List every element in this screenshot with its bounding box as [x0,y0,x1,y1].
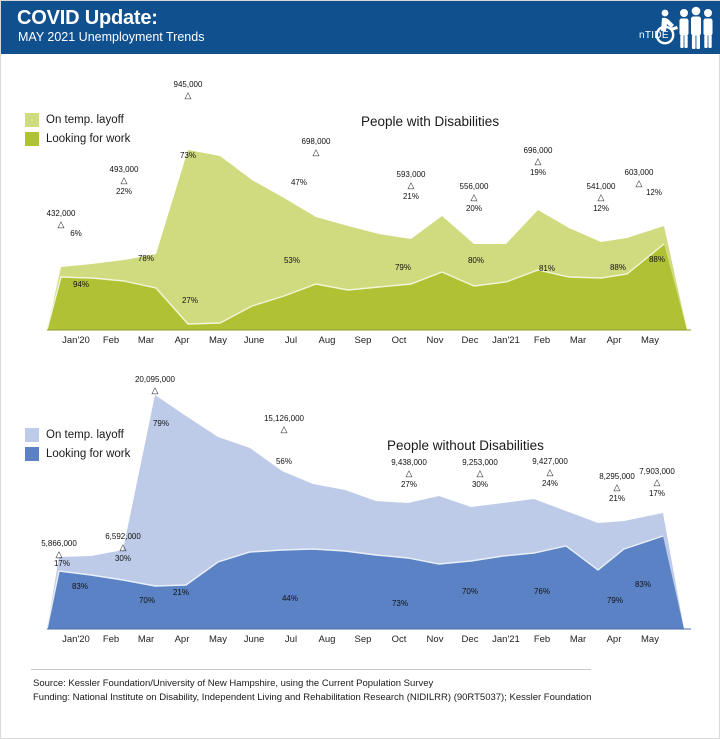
value-label: 696,000 [503,146,573,155]
pct-label-lower: 73% [383,599,417,608]
pct-label-lower: 21% [164,588,198,597]
data-point-marker: △ [178,90,198,101]
x-axis-label: May [629,634,671,645]
pct-label: 56% [267,457,301,466]
legend-label-looking-for-work: Looking for work [46,133,130,145]
footer-source-text: Source: Kessler Foundation/University of… [33,678,433,689]
data-point-marker: △ [114,175,134,186]
data-point-marker: △ [399,468,419,479]
pct-label: 12% [584,204,618,213]
data-point-marker: △ [540,467,560,478]
x-axis-label: May [629,335,671,346]
value-label: 15,126,000 [249,414,319,423]
pct-label-lower: 81% [530,264,564,273]
legend-bottom: On temp. layoff Looking for work [25,428,130,466]
data-point-marker: △ [647,477,667,488]
pct-label: 73% [171,151,205,160]
data-point-marker: △ [464,192,484,203]
pct-label-lower: 76% [525,587,559,596]
pct-label: 19% [521,168,555,177]
wheelchair-and-people-icon [639,3,715,51]
pct-label-lower: 53% [275,256,309,265]
value-label: 7,903,000 [622,467,692,476]
legend-swatch-looking-for-work [25,447,39,461]
value-label: 9,253,000 [445,458,515,467]
pct-label-lower: 80% [459,256,493,265]
pct-label-lower: 79% [598,596,632,605]
data-point-marker: △ [113,542,133,553]
pct-label: 21% [394,192,428,201]
legend-item-looking-for-work: Looking for work [25,447,130,461]
pct-label-lower: 79% [386,263,420,272]
pct-label: 30% [106,554,140,563]
legend-top: On temp. layoff Looking for work [25,113,130,151]
data-point-marker: △ [145,385,165,396]
data-point-marker: △ [528,156,548,167]
chart-top-plot-area [1,58,720,348]
pct-label: 47% [282,178,316,187]
ntide-logo: nTIDE [639,3,715,51]
pct-label-lower: 27% [173,296,207,305]
value-label: 541,000 [566,182,636,191]
pct-label-lower: 83% [63,582,97,591]
data-point-marker: △ [470,468,490,479]
value-label: 698,000 [281,137,351,146]
value-label: 6,592,000 [88,532,158,541]
data-point-marker: △ [306,147,326,158]
value-label: 5,866,000 [24,539,94,548]
page-subtitle: MAY 2021 Unemployment Trends [18,30,204,44]
pct-label: 79% [144,419,178,428]
ntide-covid-update-infographic: COVID Update: MAY 2021 Unemployment Tren… [0,0,720,739]
pct-label-lower: 78% [129,254,163,263]
legend-swatch-temp-layoff [25,428,39,442]
pct-label: 20% [457,204,491,213]
pct-label-lower: 70% [453,587,487,596]
value-label: 20,095,000 [120,375,190,384]
chart-people-without-disabilities: On temp. layoff Looking for work People … [1,356,720,646]
pct-label-lower: 44% [273,594,307,603]
logo-wordmark: nTIDE [639,30,669,41]
pct-label: 24% [533,479,567,488]
legend-item-temp-layoff: On temp. layoff [25,113,130,127]
data-point-marker: △ [401,180,421,191]
chart-title-without-disabilities: People without Disabilities [387,438,544,453]
pct-label-lower: 94% [64,280,98,289]
header-banner: COVID Update: MAY 2021 Unemployment Tren… [1,1,720,54]
value-label: 593,000 [376,170,446,179]
pct-label: 12% [637,188,671,197]
value-label: 556,000 [439,182,509,191]
pct-label-lower: 83% [626,580,660,589]
value-label: 9,438,000 [374,458,444,467]
data-point-marker: △ [607,482,627,493]
footer-funding-text: Funding: National Institute on Disabilit… [33,692,591,703]
legend-item-temp-layoff: On temp. layoff [25,428,130,442]
legend-label-temp-layoff: On temp. layoff [46,114,124,126]
value-label: 432,000 [26,209,96,218]
pct-label: 22% [107,187,141,196]
data-point-marker: △ [274,424,294,435]
pct-label: 17% [45,559,79,568]
pct-label: 6% [59,229,93,238]
pct-label-lower: 70% [130,596,164,605]
legend-swatch-looking-for-work [25,132,39,146]
value-label: 945,000 [153,80,223,89]
data-point-marker: △ [591,192,611,203]
pct-label: 27% [392,480,426,489]
footer-divider [31,669,591,670]
value-label: 9,427,000 [515,457,585,466]
legend-swatch-temp-layoff [25,113,39,127]
pct-label-lower: 88% [601,263,635,272]
legend-label-temp-layoff: On temp. layoff [46,429,124,441]
page-title: COVID Update: [17,7,158,30]
chart-people-with-disabilities: On temp. layoff Looking for work People … [1,58,720,348]
x-axis-label: June [233,335,275,346]
chart-title-with-disabilities: People with Disabilities [361,114,499,129]
pct-label: 30% [463,480,497,489]
pct-label-lower: 88% [640,255,674,264]
x-axis-label: June [233,634,275,645]
pct-label: 21% [600,494,634,503]
pct-label: 17% [640,489,674,498]
legend-label-looking-for-work: Looking for work [46,448,130,460]
value-label: 493,000 [89,165,159,174]
legend-item-looking-for-work: Looking for work [25,132,130,146]
value-label: 603,000 [604,168,674,177]
